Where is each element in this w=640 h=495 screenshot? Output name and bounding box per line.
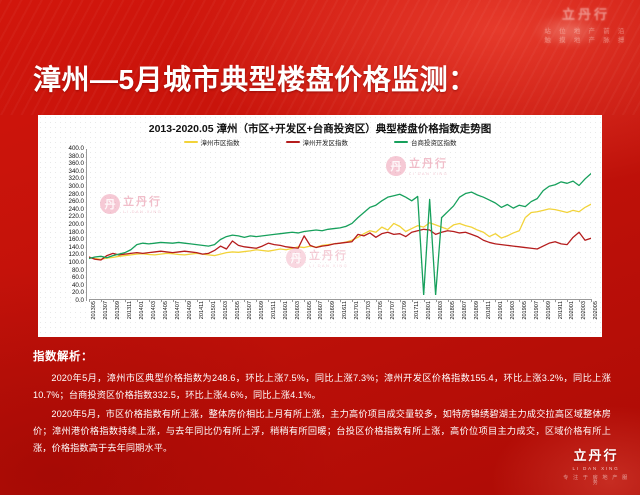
- y-axis-tick: 120.0: [69, 252, 84, 258]
- legend-item-0[interactable]: 漳州市区指数: [184, 137, 240, 147]
- x-axis-tick-mark: [495, 299, 496, 302]
- analysis-paragraph-2: 2020年5月，市区价格指数有所上涨，整体房价相比上月有所上涨，主力高价项目成交…: [33, 406, 611, 457]
- x-axis-tick-mark: [113, 299, 114, 302]
- corner-watermark-line2: 触 摸 地 产 脉 搏: [538, 38, 634, 45]
- x-axis-tick-mark: [209, 299, 210, 302]
- x-axis-tick: 201909: [546, 301, 552, 320]
- analysis-title: 指数解析：: [33, 348, 611, 364]
- x-axis-tick: 201801: [426, 301, 432, 320]
- x-axis-tick: 201511: [271, 301, 277, 319]
- x-axis-tick: 201709: [402, 301, 408, 320]
- x-axis-tick: 201501: [211, 301, 217, 320]
- x-axis-tick-mark: [185, 299, 186, 302]
- footer-logo-sub: LI DAN XING: [560, 466, 632, 471]
- x-axis-tick-mark: [388, 299, 389, 302]
- x-axis-tick: 201803: [438, 301, 444, 320]
- analysis-section: 指数解析： 2020年5月，漳州市区典型价格指数为248.6，环比上涨7.5%，…: [33, 348, 611, 459]
- x-axis-tick: 201411: [199, 301, 205, 319]
- x-axis-tick-mark: [471, 299, 472, 302]
- footer-logo-tagline: 专 注 于 房 地 产 服 务: [560, 476, 632, 487]
- x-axis-tick: 201409: [187, 301, 193, 320]
- y-axis-tick: 380.0: [69, 154, 84, 160]
- x-axis-tick-mark: [232, 299, 233, 302]
- x-axis-tick-mark: [304, 299, 305, 302]
- x-axis-tick-mark: [340, 299, 341, 302]
- x-axis-tick: 201603: [295, 301, 301, 320]
- x-axis-tick: 201903: [510, 301, 516, 320]
- x-axis-tick: 201905: [522, 301, 528, 320]
- x-axis-tick: 202005: [593, 301, 599, 320]
- x-axis-tick-mark: [483, 299, 484, 302]
- x-axis-tick-mark: [591, 299, 592, 302]
- x-axis-tick-mark: [89, 299, 90, 302]
- chart-series-line-2: [89, 174, 591, 295]
- y-axis-line: [86, 149, 87, 301]
- legend-swatch-icon: [394, 141, 408, 143]
- x-axis-tick-mark: [292, 299, 293, 302]
- corner-watermark-logo: 立丹行: [538, 8, 634, 22]
- x-axis-tick-mark: [316, 299, 317, 302]
- x-axis-tick-mark: [567, 299, 568, 302]
- x-axis-tick: 202003: [581, 301, 587, 320]
- x-axis-tick: 201611: [342, 301, 348, 319]
- y-axis-tick: 60.0: [72, 275, 84, 281]
- x-axis-tick: 201705: [378, 301, 384, 320]
- x-axis-tick: 201401: [139, 301, 145, 320]
- y-axis-tick: 160.0: [69, 237, 84, 243]
- y-axis-tick: 140.0: [69, 245, 84, 251]
- footer-logo: 立丹行 LI DAN XING 专 注 于 房 地 产 服 务: [560, 449, 632, 487]
- x-axis-tick: 201711: [414, 301, 420, 319]
- x-axis-tick-mark: [137, 299, 138, 302]
- x-axis-tick: 201807: [462, 301, 468, 320]
- x-axis-tick-mark: [220, 299, 221, 302]
- y-axis-tick: 40.0: [72, 283, 84, 289]
- y-axis-tick: 20.0: [72, 290, 84, 296]
- y-axis-tick: 0.0: [75, 298, 84, 304]
- x-axis-tick-mark: [197, 299, 198, 302]
- x-axis-tick: 201609: [330, 301, 336, 320]
- y-axis-tick: 340.0: [69, 169, 84, 175]
- x-axis-tick-mark: [244, 299, 245, 302]
- page-title: 漳州—5月城市典型楼盘价格监测：: [33, 58, 477, 98]
- chart-panel: 2013-2020.05 漳州（市区+开发区+台商投资区）典型楼盘价格指数走势图…: [38, 115, 602, 337]
- x-axis-tick-mark: [519, 299, 520, 302]
- x-axis-tick: 201307: [103, 301, 109, 320]
- x-axis-tick: 201907: [534, 301, 540, 320]
- x-axis-tick: 201403: [151, 301, 157, 320]
- legend-item-1[interactable]: 漳州开发区指数: [286, 137, 349, 147]
- y-axis-tick: 280.0: [69, 192, 84, 198]
- x-axis-tick: 201607: [318, 301, 324, 320]
- x-axis-tick: 201701: [354, 301, 360, 320]
- x-axis-tick-mark: [268, 299, 269, 302]
- legend-swatch-icon: [184, 141, 198, 143]
- x-axis-tick: 201505: [235, 301, 241, 320]
- x-axis-tick: 201407: [175, 301, 181, 320]
- y-axis-tick: 80.0: [72, 268, 84, 274]
- x-axis-tick-mark: [161, 299, 162, 302]
- x-axis-tick-mark: [256, 299, 257, 302]
- x-axis-tick-mark: [376, 299, 377, 302]
- x-axis-tick: 201911: [558, 301, 564, 319]
- x-axis-tick: 202001: [569, 301, 575, 320]
- x-axis-tick: 201305: [91, 301, 97, 320]
- x-axis-tick-mark: [328, 299, 329, 302]
- x-axis-tick-mark: [364, 299, 365, 302]
- legend-item-2[interactable]: 台商投资区指数: [394, 137, 457, 147]
- chart-plot-area: [89, 149, 591, 295]
- x-axis-tick: 201311: [127, 301, 133, 319]
- legend-swatch-icon: [286, 141, 300, 143]
- x-axis-tick: 201507: [247, 301, 253, 320]
- y-axis-tick: 240.0: [69, 207, 84, 213]
- chart-y-axis: 400.0380.0360.0340.0320.0300.0280.0260.0…: [46, 143, 87, 301]
- x-axis-tick-mark: [448, 299, 449, 302]
- x-axis-tick-mark: [173, 299, 174, 302]
- x-axis-tick-mark: [352, 299, 353, 302]
- y-axis-tick: 320.0: [69, 176, 84, 182]
- x-axis-tick-mark: [412, 299, 413, 302]
- x-axis-tick-mark: [531, 299, 532, 302]
- y-axis-tick: 180.0: [69, 230, 84, 236]
- x-axis-tick: 201605: [307, 301, 313, 320]
- x-axis-tick-mark: [149, 299, 150, 302]
- footer-logo-main: 立丹行: [560, 449, 632, 463]
- x-axis-tick-mark: [424, 299, 425, 302]
- chart-legend: 漳州市区指数漳州开发区指数台商投资区指数: [38, 137, 602, 147]
- x-axis-tick-mark: [125, 299, 126, 302]
- x-axis-tick: 201703: [366, 301, 372, 320]
- slide-background: 立丹行 站 位 地 产 前 沿 触 摸 地 产 脉 搏 漳州—5月城市典型楼盘价…: [0, 0, 640, 495]
- x-axis-tick: 201805: [450, 301, 456, 320]
- y-axis-tick: 300.0: [69, 184, 84, 190]
- x-axis-tick-mark: [280, 299, 281, 302]
- x-axis-tick-mark: [436, 299, 437, 302]
- x-axis-tick: 201601: [283, 301, 289, 320]
- x-axis-tick-mark: [460, 299, 461, 302]
- corner-watermark-line1: 站 位 地 产 前 沿: [538, 29, 634, 36]
- x-axis-tick: 201405: [163, 301, 169, 320]
- x-axis-tick: 201309: [115, 301, 121, 320]
- chart-x-axis: 2013052013072013092013112014012014032014…: [89, 299, 591, 337]
- y-axis-tick: 100.0: [69, 260, 84, 266]
- x-axis-tick-mark: [507, 299, 508, 302]
- x-axis-tick-mark: [101, 299, 102, 302]
- corner-watermark: 立丹行 站 位 地 产 前 沿 触 摸 地 产 脉 搏: [538, 8, 634, 64]
- x-axis-tick: 201811: [486, 301, 492, 319]
- chart-title: 2013-2020.05 漳州（市区+开发区+台商投资区）典型楼盘价格指数走势图: [38, 121, 602, 136]
- y-axis-tick: 400.0: [69, 146, 84, 152]
- x-axis-tick-mark: [543, 299, 544, 302]
- x-axis-tick-mark: [579, 299, 580, 302]
- x-axis-tick: 201809: [474, 301, 480, 320]
- y-axis-tick: 260.0: [69, 199, 84, 205]
- x-axis-tick: 201503: [223, 301, 229, 320]
- x-axis-tick: 201509: [259, 301, 265, 320]
- y-axis-tick: 220.0: [69, 214, 84, 220]
- x-axis-tick-mark: [555, 299, 556, 302]
- y-axis-tick: 200.0: [69, 222, 84, 228]
- chart-svg: [89, 149, 591, 295]
- x-axis-tick-mark: [400, 299, 401, 302]
- x-axis-tick: 201901: [498, 301, 504, 320]
- legend-label: 漳州开发区指数: [303, 137, 349, 147]
- y-axis-tick: 360.0: [69, 161, 84, 167]
- chart-series-line-1: [89, 229, 591, 260]
- analysis-paragraph-1: 2020年5月，漳州市区典型价格指数为248.6，环比上涨7.5%，同比上涨7.…: [33, 370, 611, 404]
- x-axis-tick: 201707: [390, 301, 396, 320]
- legend-label: 漳州市区指数: [201, 137, 240, 147]
- legend-label: 台商投资区指数: [411, 137, 457, 147]
